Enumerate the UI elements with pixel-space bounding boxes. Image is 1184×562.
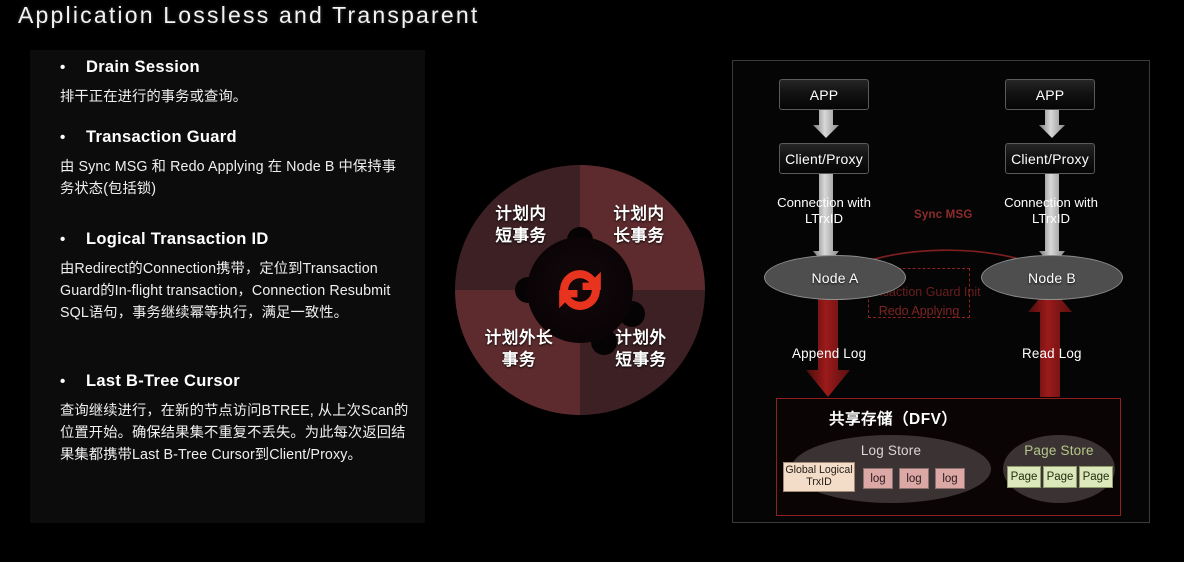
bullet-heading-text: Drain Session: [86, 58, 200, 77]
bullet-heading-text: Transaction Guard: [86, 128, 237, 147]
arrow-append-log: [806, 286, 850, 397]
bullet-block-transaction-guard: • Transaction Guard 由 Sync MSG 和 Redo Ap…: [60, 128, 410, 200]
chip-page-1[interactable]: Page: [1007, 466, 1041, 488]
bullet-body-text: 由 Sync MSG 和 Redo Applying 在 Node B 中保持事…: [60, 156, 410, 200]
box-client-proxy-right[interactable]: Client/Proxy: [1005, 143, 1095, 174]
wheel-label-planned-short: 计划内 短事务: [463, 203, 579, 247]
chip-global-logical-trxid[interactable]: Global Logical TrxID: [783, 462, 855, 492]
arrow-app-to-proxy-right: [1039, 109, 1065, 138]
wheel-label-planned-long: 计划内 长事务: [581, 203, 697, 247]
label-append-log: Append Log: [792, 346, 866, 361]
arrow-app-to-proxy-left: [813, 109, 839, 138]
bullet-dot-icon: •: [60, 231, 86, 248]
bullet-body-text: 查询继续进行，在新的节点访问BTREE, 从上次Scan的位置开始。确保结果集不…: [60, 400, 410, 466]
page-title: Application Lossless and Transparent: [18, 2, 480, 29]
chip-log-1[interactable]: log: [863, 468, 893, 489]
label-connection-right: Connection with LTrxID: [981, 195, 1121, 227]
transaction-type-wheel: 计划内 短事务 计划内 长事务 计划外长 事务 计划外 短事务: [455, 165, 705, 415]
bullet-dot-icon: •: [60, 373, 86, 390]
bullet-body-text: 排干正在进行的事务或查询。: [60, 86, 410, 108]
chip-page-3[interactable]: Page: [1079, 466, 1113, 488]
arrow-read-log: [1028, 286, 1072, 397]
chip-log-2[interactable]: log: [899, 468, 929, 489]
chip-log-3[interactable]: log: [935, 468, 965, 489]
left-text-panel: • Drain Session 排干正在进行的事务或查询。 • Transact…: [30, 50, 425, 523]
bullet-block-last-btree-cursor: • Last B-Tree Cursor 查询继续进行，在新的节点访问BTREE…: [60, 372, 410, 466]
label-read-log: Read Log: [1022, 346, 1082, 361]
page-store-title: Page Store: [1003, 443, 1115, 458]
bullet-heading-text: Last B-Tree Cursor: [86, 372, 240, 391]
bullet-dot-icon: •: [60, 59, 86, 76]
sync-refresh-icon: [551, 261, 609, 319]
box-app-right[interactable]: APP: [1005, 79, 1095, 110]
wheel-label-unplanned-short: 计划外 短事务: [583, 327, 699, 371]
bullet-heading: • Logical Transaction ID: [60, 230, 410, 249]
slide-root: Application Lossless and Transparent • D…: [0, 0, 1184, 562]
wheel-label-unplanned-long: 计划外长 事务: [461, 327, 577, 371]
redo-applying-label: Redo Applying: [879, 302, 960, 321]
bullet-dot-icon: •: [60, 129, 86, 146]
chip-page-2[interactable]: Page: [1043, 466, 1077, 488]
bullet-heading-text: Logical Transaction ID: [86, 230, 269, 249]
bullet-heading: • Drain Session: [60, 58, 410, 77]
shared-storage-box: 共享存储（DFV） Log Store Global Logical TrxID…: [776, 398, 1121, 516]
bullet-body-text: 由Redirect的Connection携带，定位到Transaction Gu…: [60, 258, 410, 324]
label-sync-msg: Sync MSG: [914, 209, 972, 221]
node-b-ellipse[interactable]: Node B: [981, 255, 1123, 300]
bullet-block-logical-transaction-id: • Logical Transaction ID 由Redirect的Conne…: [60, 230, 410, 324]
bullet-heading: • Last B-Tree Cursor: [60, 372, 410, 391]
box-app-left[interactable]: APP: [779, 79, 869, 110]
label-connection-left: Connection with LTrxID: [754, 195, 894, 227]
node-a-ellipse[interactable]: Node A: [764, 255, 906, 300]
bullet-heading: • Transaction Guard: [60, 128, 410, 147]
shared-storage-title: 共享存储（DFV）: [829, 407, 958, 429]
box-client-proxy-left[interactable]: Client/Proxy: [779, 143, 869, 174]
bullet-block-drain-session: • Drain Session 排干正在进行的事务或查询。: [60, 58, 410, 108]
log-store-title: Log Store: [791, 443, 991, 458]
